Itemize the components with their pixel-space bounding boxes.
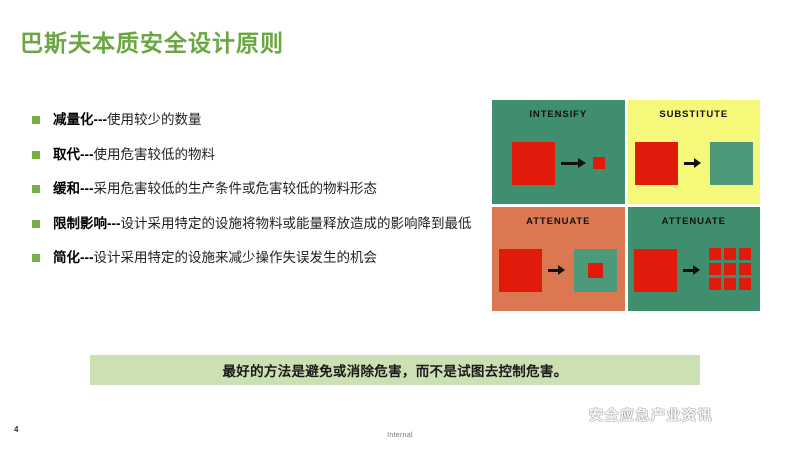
large-red-square-icon xyxy=(634,249,677,292)
list-item-term: 减量化 xyxy=(53,112,94,127)
bullet-square-icon xyxy=(32,254,40,262)
list-item: 限制影响---设计采用特定的设施将物料或能量释放造成的影响降到最低 xyxy=(32,214,487,234)
list-item-text: 缓和---采用危害较低的生产条件或危害较低的物料形态 xyxy=(53,179,377,199)
quadrant-graphic xyxy=(492,237,625,303)
list-item: 缓和---采用危害较低的生产条件或危害较低的物料形态 xyxy=(32,179,487,199)
green-square-with-red-core-icon xyxy=(574,249,617,292)
bullet-square-icon xyxy=(32,185,40,193)
quadrant-label: ATTENUATE xyxy=(492,216,625,227)
list-item-term: 限制影响 xyxy=(53,216,107,231)
inherent-safety-diagram: INTENSIFY SUBSTITUTE ATTENUATE xyxy=(492,100,760,311)
watermark-text: 安全应急产业资讯 xyxy=(589,405,713,425)
list-item-term: 缓和 xyxy=(53,181,80,196)
quadrant-substitute: SUBSTITUTE xyxy=(628,100,761,204)
large-red-square-icon xyxy=(635,142,678,185)
quadrant-intensify: INTENSIFY xyxy=(492,100,625,204)
list-item-text: 取代---使用危害较低的物料 xyxy=(53,145,215,165)
list-item-dash: --- xyxy=(80,250,94,265)
quadrant-graphic xyxy=(628,130,761,196)
red-square-grid-icon xyxy=(709,248,754,293)
list-item-description: 使用危害较低的物料 xyxy=(94,147,216,162)
key-message-banner: 最好的方法是避免或消除危害，而不是试图去控制危害。 xyxy=(90,355,700,385)
list-item-dash: --- xyxy=(107,216,121,231)
list-item-description: 采用危害较低的生产条件或危害较低的物料形态 xyxy=(94,181,378,196)
list-item-term: 简化 xyxy=(53,250,80,265)
page-title: 巴斯夫本质安全设计原则 xyxy=(20,24,284,58)
arrow-right-icon xyxy=(548,263,568,277)
large-green-square-icon xyxy=(710,142,753,185)
quadrant-label: SUBSTITUTE xyxy=(628,109,761,120)
quadrant-attenuate-orange: ATTENUATE xyxy=(492,207,625,311)
watermark: 安全应急产业资讯 xyxy=(560,405,713,425)
large-red-square-icon xyxy=(499,249,542,292)
list-item: 减量化---使用较少的数量 xyxy=(32,110,487,130)
list-item-text: 减量化---使用较少的数量 xyxy=(53,110,202,130)
list-item-description: 设计采用特定的设施来减少操作失误发生的机会 xyxy=(94,250,378,265)
arrow-right-icon xyxy=(683,263,703,277)
confidentiality-label: Internal xyxy=(0,432,800,439)
key-message-text: 最好的方法是避免或消除危害，而不是试图去控制危害。 xyxy=(223,360,568,380)
quadrant-attenuate-green: ATTENUATE xyxy=(628,207,761,311)
arrow-right-icon xyxy=(684,156,704,170)
slide-canvas: 巴斯夫本质安全设计原则 减量化---使用较少的数量 取代---使用危害较低的物料… xyxy=(0,0,800,450)
arrow-right-icon xyxy=(561,156,587,170)
list-item-description: 使用较少的数量 xyxy=(107,112,202,127)
list-item-dash: --- xyxy=(80,181,94,196)
list-item-dash: --- xyxy=(80,147,94,162)
list-item-text: 简化---设计采用特定的设施来减少操作失误发生的机会 xyxy=(53,248,377,268)
quadrant-graphic xyxy=(492,130,625,196)
title-divider xyxy=(18,62,780,63)
bullet-square-icon xyxy=(32,116,40,124)
list-item: 简化---设计采用特定的设施来减少操作失误发生的机会 xyxy=(32,248,487,268)
quadrant-label: ATTENUATE xyxy=(628,216,761,227)
list-item-description: 设计采用特定的设施将物料或能量释放造成的影响降到最低 xyxy=(121,216,472,231)
bullet-square-icon xyxy=(32,220,40,228)
list-item-text: 限制影响---设计采用特定的设施将物料或能量释放造成的影响降到最低 xyxy=(53,214,472,234)
small-red-square-icon xyxy=(593,157,605,169)
list-item-dash: --- xyxy=(94,112,108,127)
principles-list: 减量化---使用较少的数量 取代---使用危害较低的物料 缓和---采用危害较低… xyxy=(32,110,487,283)
wechat-icon xyxy=(560,406,582,425)
large-red-square-icon xyxy=(512,142,555,185)
list-item-term: 取代 xyxy=(53,147,80,162)
quadrant-label: INTENSIFY xyxy=(492,109,625,120)
quadrant-graphic xyxy=(628,237,761,303)
list-item: 取代---使用危害较低的物料 xyxy=(32,145,487,165)
bullet-square-icon xyxy=(32,151,40,159)
